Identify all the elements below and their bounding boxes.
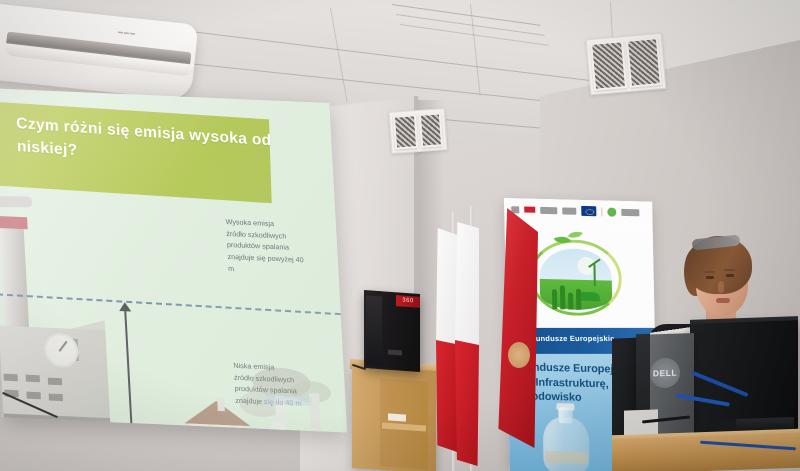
presenter-eye: [726, 274, 734, 277]
polish-flag-red-half: [455, 340, 479, 466]
leaf-icon: [568, 229, 582, 240]
polish-flag-white-half: [455, 222, 479, 348]
loudspeaker-logo: 360: [396, 295, 420, 308]
presenter-nose: [718, 281, 724, 293]
house-chimney: [217, 397, 225, 411]
factory-window: [49, 394, 63, 402]
ministry-logo: [540, 206, 557, 213]
presentation-room-photo: ▬▬▬ Czym różni się emisja wysoka od nisk…: [0, 0, 800, 471]
factory-chimney: [0, 216, 29, 335]
eco-vehicle: [578, 292, 600, 302]
cabinet-paper: [388, 413, 406, 421]
vent-grille: [625, 37, 662, 88]
wooden-desk: [612, 433, 800, 471]
presenter-eyebrow: [724, 269, 735, 271]
family-silhouette: [560, 285, 566, 309]
factory-pipe: [0, 196, 33, 208]
polish-flag-white-half: [436, 228, 458, 348]
vent-grille: [590, 40, 627, 91]
eco-circle-illustration: [529, 239, 623, 317]
high-emission-note: Wysoka emisja źródło szkodliwych produkt…: [225, 216, 337, 279]
bottle-label: [545, 451, 587, 464]
loudspeaker-badge: [388, 350, 402, 356]
factory-chimney-top: [0, 216, 28, 229]
presenter-eyebrow: [704, 271, 715, 273]
loudspeaker-front: [366, 295, 382, 366]
vent-grille: [418, 112, 443, 147]
presenter-eye: [706, 276, 714, 279]
wall-vent-right: [586, 33, 667, 95]
poland-flag-logo: [524, 206, 535, 212]
family-silhouette: [568, 292, 573, 309]
factory-window: [48, 378, 62, 386]
wind-turbine-mast: [593, 264, 595, 286]
factory-window: [26, 392, 40, 400]
green-program-icon: [607, 207, 616, 216]
projected-slide: Czym różni się emisja wysoka od niskiej?: [0, 88, 347, 433]
threshold-dashed-line: [0, 293, 341, 315]
eu-flag-icon: [581, 206, 596, 216]
funds-logo: [562, 207, 576, 214]
polish-flag-red-half: [436, 340, 458, 452]
vent-grille: [393, 114, 418, 149]
family-silhouette: [552, 289, 557, 309]
height-arrow-shaft: [124, 307, 135, 432]
flag-emblem: [508, 342, 530, 368]
banner-logo-strip: [504, 198, 653, 224]
poland-emblem-logo: [511, 206, 519, 213]
logo-separator: [601, 207, 602, 216]
projection-screen: Czym różni się emisja wysoka od niskiej?: [0, 88, 347, 433]
factory-window: [26, 375, 40, 383]
family-silhouette: [576, 289, 581, 310]
wall-vent-left: [389, 108, 448, 154]
program-name-logo: [621, 208, 639, 215]
presenter-mouth: [716, 298, 730, 303]
factory-window: [3, 374, 17, 382]
